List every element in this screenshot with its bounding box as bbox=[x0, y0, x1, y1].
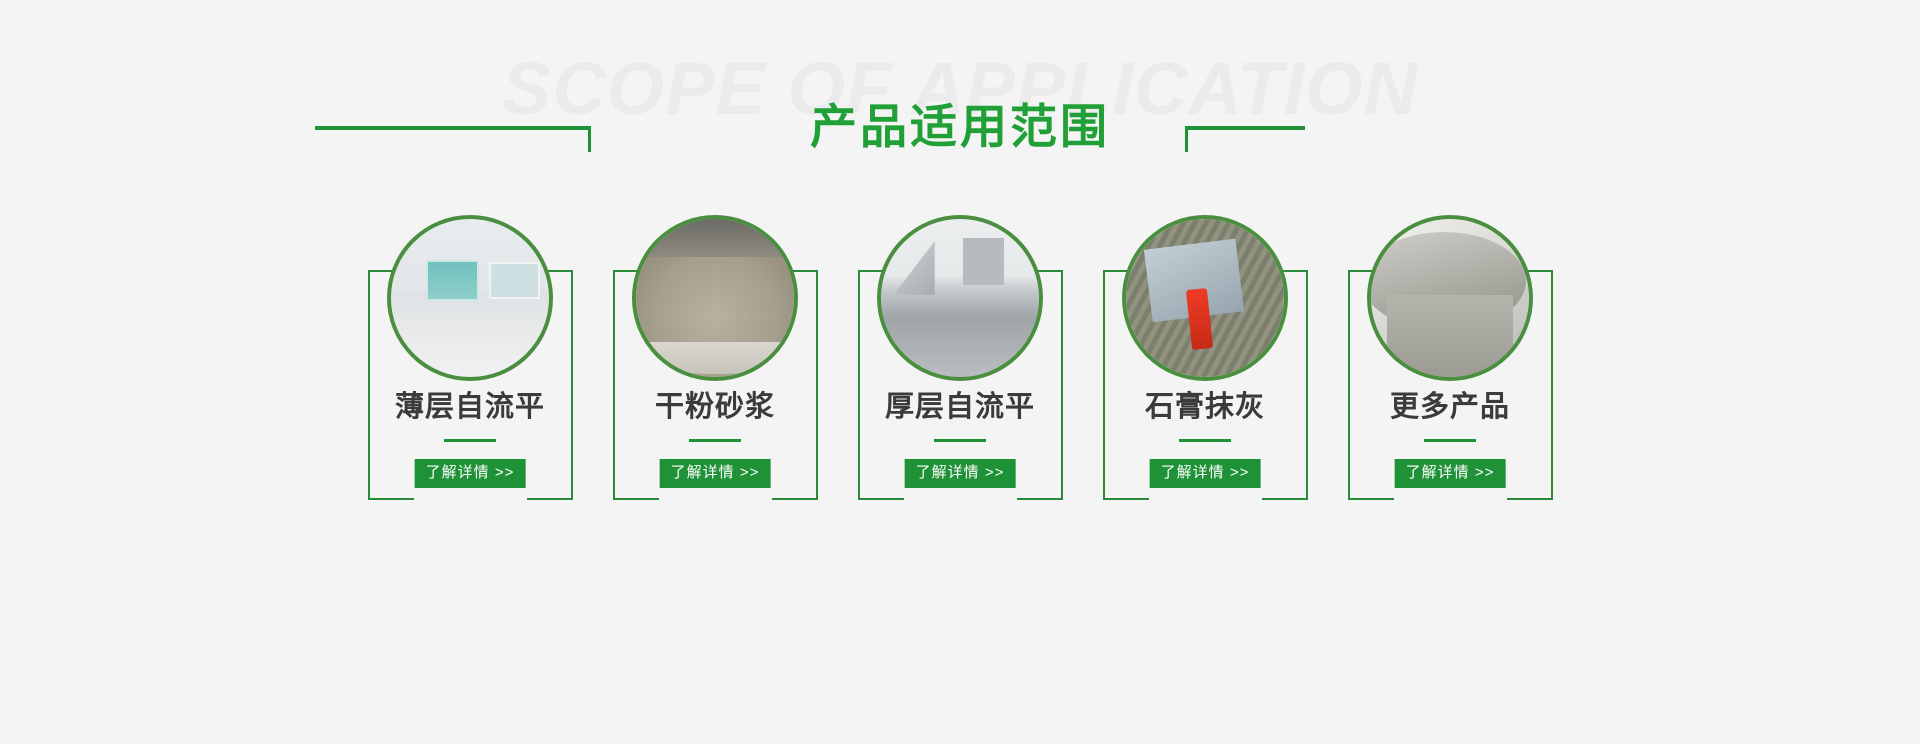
learn-more-button[interactable]: 了解详情 >> bbox=[1395, 459, 1506, 488]
product-thumbnail[interactable] bbox=[632, 215, 798, 381]
section-header: SCOPE OF APPLICATION 产品适用范围 bbox=[0, 0, 1920, 210]
product-thumbnail[interactable] bbox=[1367, 215, 1533, 381]
learn-more-button[interactable]: 了解详情 >> bbox=[905, 459, 1016, 488]
product-card-dry-mortar[interactable]: 干粉砂浆 了解详情 >> bbox=[613, 255, 818, 500]
product-title: 厚层自流平 bbox=[858, 390, 1063, 425]
product-thumbnail[interactable] bbox=[877, 215, 1043, 381]
product-card-thick-self-leveling[interactable]: 厚层自流平 了解详情 >> bbox=[858, 255, 1063, 500]
cleanroom-epoxy-floor-photo bbox=[391, 219, 549, 377]
polished-surface-closeup-photo bbox=[1371, 219, 1529, 377]
learn-more-button[interactable]: 了解详情 >> bbox=[1150, 459, 1261, 488]
title-divider bbox=[1179, 439, 1231, 442]
dry-mortar-powder-bag-photo bbox=[636, 219, 794, 377]
product-thumbnail[interactable] bbox=[387, 215, 553, 381]
title-divider bbox=[689, 439, 741, 442]
product-card-thin-self-leveling[interactable]: 薄层自流平 了解详情 >> bbox=[368, 255, 573, 500]
title-divider bbox=[1424, 439, 1476, 442]
page-title: 产品适用范围 bbox=[0, 100, 1920, 154]
learn-more-button[interactable]: 了解详情 >> bbox=[660, 459, 771, 488]
product-thumbnail[interactable] bbox=[1122, 215, 1288, 381]
product-cards-row: 薄层自流平 了解详情 >> 干粉砂浆 了解详情 >> 厚层自流平 了解详情 >> bbox=[0, 255, 1920, 500]
product-title: 石膏抹灰 bbox=[1103, 390, 1308, 425]
product-title: 干粉砂浆 bbox=[613, 390, 818, 425]
title-divider bbox=[934, 439, 986, 442]
title-divider bbox=[444, 439, 496, 442]
notched-trowel-plaster-photo bbox=[1126, 219, 1284, 377]
product-title: 更多产品 bbox=[1348, 390, 1553, 425]
factory-floor-machine-photo bbox=[881, 219, 1039, 377]
learn-more-button[interactable]: 了解详情 >> bbox=[415, 459, 526, 488]
product-card-more-products[interactable]: 更多产品 了解详情 >> bbox=[1348, 255, 1553, 500]
product-title: 薄层自流平 bbox=[368, 390, 573, 425]
product-card-gypsum-plaster[interactable]: 石膏抹灰 了解详情 >> bbox=[1103, 255, 1308, 500]
